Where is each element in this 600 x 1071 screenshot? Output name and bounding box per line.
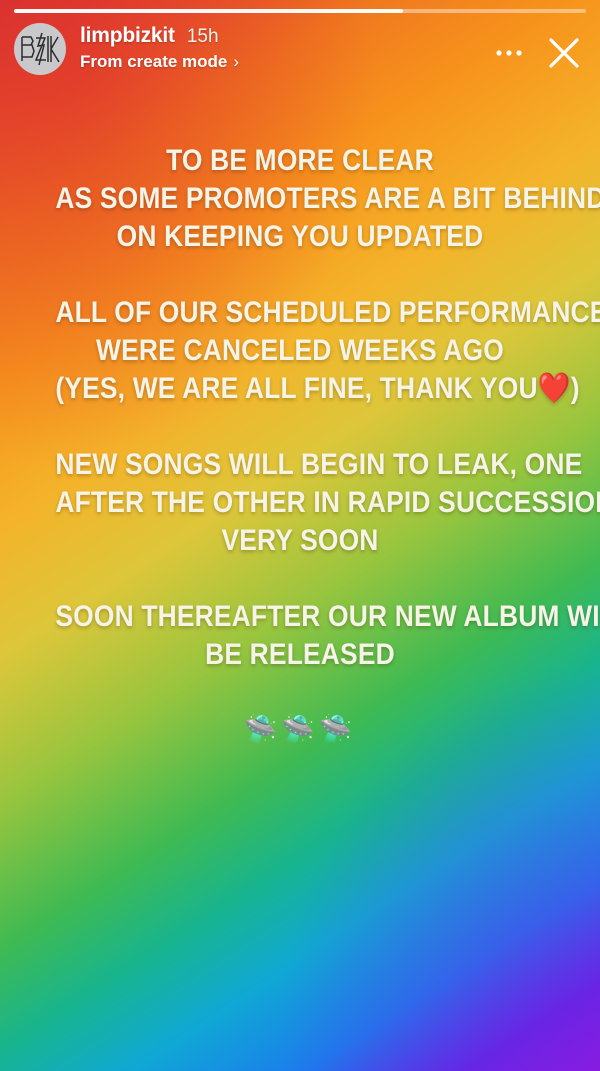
- avatar[interactable]: [14, 23, 66, 75]
- timestamp: 15h: [187, 27, 219, 48]
- story-text-line: AFTER THE OTHER IN RAPID SUCCESSION,: [55, 484, 544, 522]
- story-text-line: TO BE MORE CLEAR: [55, 142, 544, 180]
- story-text-line: VERY SOON: [55, 522, 544, 560]
- story-paragraph: ALL OF OUR SCHEDULED PERFORMANCESWERE CA…: [55, 294, 544, 408]
- story-header: limpbizkit 15h From create mode ›: [14, 22, 590, 80]
- story-paragraph: TO BE MORE CLEARAS SOME PROMOTERS ARE A …: [55, 142, 544, 256]
- more-horizontal-icon: [496, 49, 522, 57]
- story-text-line: SOON THEREAFTER OUR NEW ALBUM WILL: [55, 598, 544, 636]
- more-options-button[interactable]: [486, 33, 532, 73]
- create-mode-link[interactable]: From create mode ›: [80, 53, 239, 72]
- bizkit-logo-icon: [18, 31, 62, 67]
- username[interactable]: limpbizkit: [80, 24, 175, 47]
- instagram-story-viewer[interactable]: limpbizkit 15h From create mode ›: [0, 0, 600, 1071]
- story-emoji-row: 🛸🛸🛸: [0, 716, 600, 743]
- story-progress-fill: [14, 9, 403, 13]
- story-meta: limpbizkit 15h From create mode ›: [80, 22, 239, 72]
- story-text-line: WERE CANCELED WEEKS AGO: [55, 332, 544, 370]
- story-progress-bar[interactable]: [14, 9, 586, 13]
- story-text-line: ALL OF OUR SCHEDULED PERFORMANCES: [55, 294, 544, 332]
- story-paragraph: SOON THEREAFTER OUR NEW ALBUM WILLBE REL…: [55, 598, 544, 674]
- story-text-line: NEW SONGS WILL BEGIN TO LEAK, ONE: [55, 446, 544, 484]
- close-story-button[interactable]: [538, 30, 590, 76]
- story-text-line: ON KEEPING YOU UPDATED: [55, 218, 544, 256]
- story-text-line: (YES, WE ARE ALL FINE, THANK YOU❤️): [55, 370, 544, 408]
- story-text-line: BE RELEASED: [55, 636, 544, 674]
- story-text-content: TO BE MORE CLEARAS SOME PROMOTERS ARE A …: [55, 142, 544, 674]
- story-header-actions: [486, 22, 590, 76]
- create-mode-label: From create mode: [80, 53, 227, 72]
- story-text-line: AS SOME PROMOTERS ARE A BIT BEHIND: [55, 180, 544, 218]
- close-icon: [547, 36, 581, 70]
- story-paragraph: NEW SONGS WILL BEGIN TO LEAK, ONEAFTER T…: [55, 446, 544, 560]
- chevron-right-icon: ›: [233, 53, 239, 72]
